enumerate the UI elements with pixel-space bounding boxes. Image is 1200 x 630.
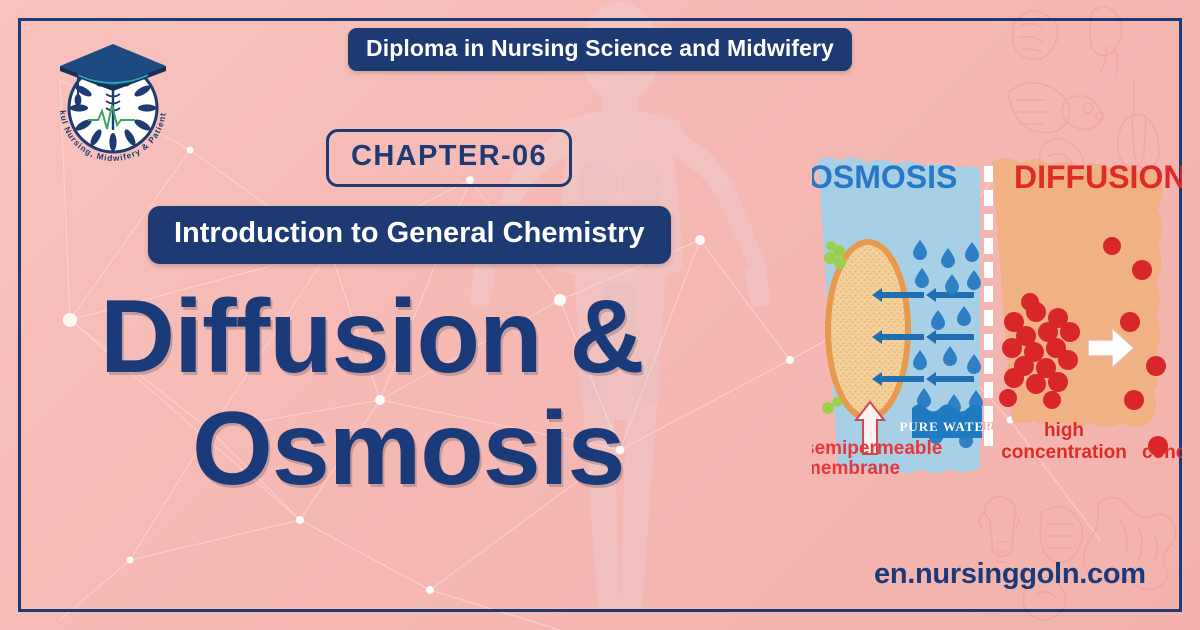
- high-concentration-label-line1: high: [1044, 420, 1084, 441]
- headline-line-2: Osmosis: [192, 400, 644, 500]
- institution-logo: Gurukul Nursing, Midwifery & Patient Car…: [48, 38, 178, 168]
- program-title-banner: Diploma in Nursing Science and Midwifery: [348, 28, 852, 71]
- chapter-badge: CHAPTER-06: [326, 129, 572, 187]
- membrane-label-line2: membrane: [812, 458, 900, 479]
- membrane-divider: [984, 166, 993, 446]
- osmosis-diffusion-diagram: OSMOSIS DIFFUSION: [812, 150, 1182, 480]
- banner-canvas: Gurukul Nursing, Midwifery & Patient Car…: [0, 0, 1200, 630]
- headline-line-1: Diffusion &: [100, 279, 644, 395]
- high-concentration-label-line2: concentration: [1001, 442, 1127, 463]
- osmosis-title: OSMOSIS: [812, 159, 957, 195]
- website-url: en.nursinggoln.com: [874, 558, 1146, 591]
- page-title: Diffusion & Osmosis: [100, 288, 644, 500]
- low-concentration-label: conc: [1142, 442, 1182, 463]
- pure-water-label: PURE WATER: [899, 405, 994, 439]
- subject-title-banner: Introduction to General Chemistry: [148, 206, 671, 264]
- membrane-label-line1: semipermeable: [812, 438, 942, 459]
- pure-water-text: PURE WATER: [899, 419, 994, 434]
- diffusion-title: DIFFUSION: [1014, 159, 1182, 195]
